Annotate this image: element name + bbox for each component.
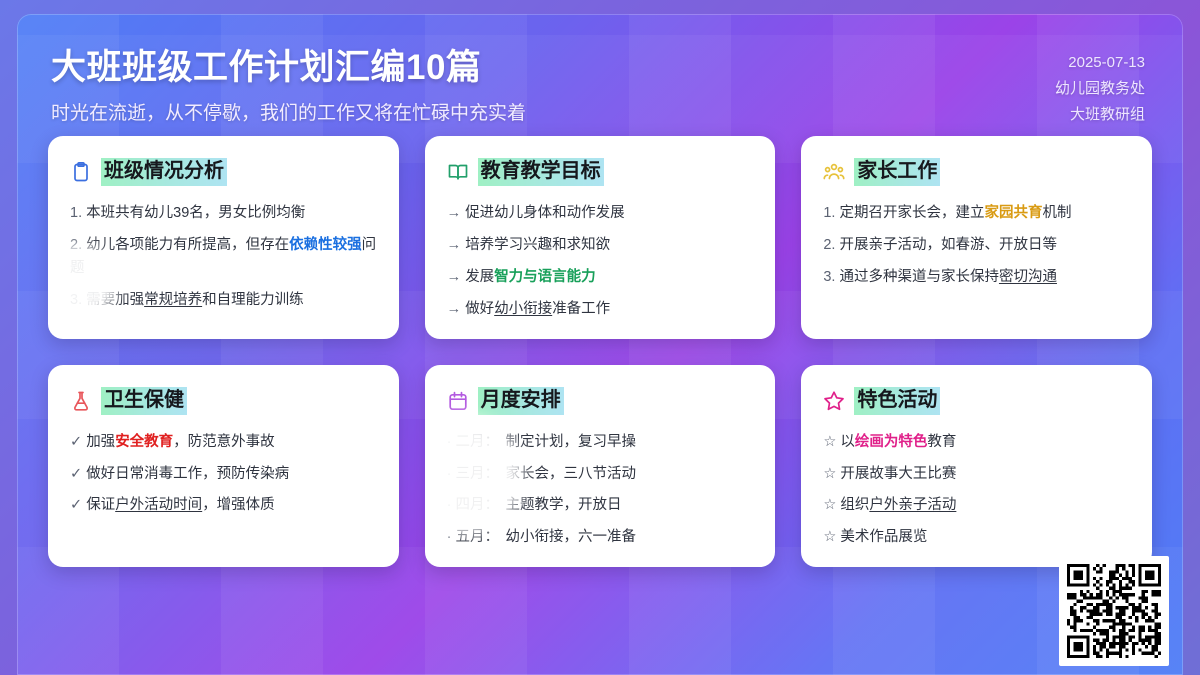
card-title: 月度安排 — [478, 387, 564, 415]
card-title: 家长工作 — [854, 158, 940, 186]
line-bullet: 3. — [70, 292, 86, 308]
line-segment: 需要加强 — [86, 292, 144, 308]
line-segment: 制定计划，复习早操 — [506, 434, 637, 450]
line-bullet: 2. — [70, 237, 86, 253]
line-segment: 保证 — [86, 497, 115, 513]
card-header: 家长工作 — [823, 158, 1130, 186]
line-bullet: 3. — [823, 269, 839, 285]
card-line: ✓ 保证户外活动时间，增强体质 — [70, 494, 377, 517]
line-segment: 做好 — [465, 301, 494, 317]
clipboard-icon — [70, 161, 92, 183]
line-segment: 培养学习兴趣和求知欲 — [465, 237, 610, 253]
qr-code[interactable] — [1059, 556, 1169, 666]
card-line: ☆ 开展故事大王比赛 — [823, 463, 1130, 486]
line-segment: 组织 — [840, 497, 869, 513]
line-segment: ，防范意外事故 — [173, 434, 275, 450]
line-bullet: ☆ — [823, 466, 840, 482]
line-segment: 机制 — [1042, 205, 1071, 221]
line-segment: ，增强体质 — [202, 497, 275, 513]
card-line: ☆ 以绘画为特色教育 — [823, 431, 1130, 454]
card-line: 1. 定期召开家长会，建立家园共育机制 — [823, 202, 1130, 225]
card-line: → 做好幼小衔接准备工作 — [447, 298, 754, 321]
line-bullet: ✓ — [70, 434, 86, 450]
line-segment: 本班共有幼儿39名，男女比例均衡 — [86, 205, 305, 221]
line-segment: 家园共育 — [984, 205, 1042, 221]
qr-code-image — [1067, 564, 1161, 658]
card-1: 班级情况分析1. 本班共有幼儿39名，男女比例均衡2. 幼儿各项能力有所提高，但… — [48, 136, 399, 339]
line-month: 三月： — [456, 463, 506, 486]
line-segment: 密切沟通 — [999, 269, 1057, 285]
card-body: 1. 本班共有幼儿39名，男女比例均衡2. 幼儿各项能力有所提高，但存在依赖性较… — [70, 202, 377, 312]
page-title: 大班班级工作计划汇编10篇 — [51, 48, 526, 88]
card-line: 3. 需要加强常规培养和自理能力训练 — [70, 289, 377, 312]
line-segment: 开展故事大王比赛 — [840, 466, 956, 482]
calendar-icon — [447, 390, 469, 412]
line-segment: 通过多种渠道与家长保持 — [839, 269, 999, 285]
line-segment: 安全教育 — [115, 434, 173, 450]
line-bullet: · — [447, 466, 456, 482]
header-org: 幼儿园教务处 — [1055, 76, 1145, 102]
line-segment: 家长会，三八节活动 — [506, 466, 637, 482]
content-panel: 大班班级工作计划汇编10篇 时光在流逝，从不停歇，我们的工作又将在忙碌中充实着 … — [17, 14, 1183, 675]
card-line: ✓ 做好日常消毒工作，预防传染病 — [70, 463, 377, 486]
card-line: → 促进幼儿身体和动作发展 — [447, 202, 754, 225]
card-header: 卫生保健 — [70, 387, 377, 415]
line-segment: 常规培养 — [144, 292, 202, 308]
line-bullet: · — [447, 529, 456, 545]
line-segment: 做好日常消毒工作，预防传染病 — [86, 466, 289, 482]
line-segment: 依赖性较强 — [289, 237, 362, 253]
card-line: 2. 幼儿各项能力有所提高，但存在依赖性较强问题 — [70, 234, 377, 280]
card-header: 月度安排 — [447, 387, 754, 415]
card-title: 卫生保健 — [101, 387, 187, 415]
people-group-icon — [823, 161, 845, 183]
line-segment: 教育 — [927, 434, 956, 450]
header-group: 大班教研组 — [1055, 102, 1145, 128]
card-body: → 促进幼儿身体和动作发展→ 培养学习兴趣和求知欲→ 发展智力与语言能力→ 做好… — [447, 202, 754, 321]
card-2: 教育教学目标→ 促进幼儿身体和动作发展→ 培养学习兴趣和求知欲→ 发展智力与语言… — [425, 136, 776, 339]
flask-icon — [70, 390, 92, 412]
card-line: · 二月：制定计划，复习早操 — [447, 431, 754, 454]
line-bullet: 1. — [70, 205, 86, 221]
page-backdrop: 大班班级工作计划汇编10篇 时光在流逝，从不停歇，我们的工作又将在忙碌中充实着 … — [0, 0, 1200, 675]
line-segment: 以 — [840, 434, 855, 450]
card-5: 月度安排· 二月：制定计划，复习早操· 三月：家长会，三八节活动· 四月：主题教… — [425, 365, 776, 568]
card-line: 1. 本班共有幼儿39名，男女比例均衡 — [70, 202, 377, 225]
line-bullet: → — [447, 237, 466, 253]
star-icon — [823, 390, 845, 412]
header-date: 2025-07-13 — [1055, 50, 1145, 76]
card-line: ☆ 美术作品展览 — [823, 526, 1130, 549]
card-body: · 二月：制定计划，复习早操· 三月：家长会，三八节活动· 四月：主题教学，开放… — [447, 431, 754, 550]
line-bullet: ☆ — [823, 497, 840, 513]
card-header: 班级情况分析 — [70, 158, 377, 186]
line-bullet: ☆ — [823, 529, 840, 545]
line-segment: 户外活动时间 — [115, 497, 202, 513]
card-6: 特色活动☆ 以绘画为特色教育☆ 开展故事大王比赛☆ 组织户外亲子活动☆ 美术作品… — [801, 365, 1152, 568]
line-bullet: 2. — [823, 237, 839, 253]
book-icon — [447, 161, 469, 183]
line-bullet: ✓ — [70, 497, 86, 513]
card-header: 教育教学目标 — [447, 158, 754, 186]
page-subtitle: 时光在流逝，从不停歇，我们的工作又将在忙碌中充实着 — [51, 98, 526, 125]
line-segment: 绘画为特色 — [855, 434, 928, 450]
card-title: 特色活动 — [854, 387, 940, 415]
card-4: 卫生保健✓ 加强安全教育，防范意外事故✓ 做好日常消毒工作，预防传染病✓ 保证户… — [48, 365, 399, 568]
card-title: 班级情况分析 — [101, 158, 227, 186]
header-title-block: 大班班级工作计划汇编10篇 时光在流逝，从不停歇，我们的工作又将在忙碌中充实着 — [51, 40, 526, 125]
line-bullet: · — [447, 434, 456, 450]
line-segment: 美术作品展览 — [840, 529, 927, 545]
line-segment: 户外亲子活动 — [869, 497, 956, 513]
card-line: · 五月：幼小衔接，六一准备 — [447, 526, 754, 549]
line-bullet: ✓ — [70, 466, 86, 482]
line-segment: 发展 — [465, 269, 494, 285]
line-segment: 加强 — [86, 434, 115, 450]
card-grid: 班级情况分析1. 本班共有幼儿39名，男女比例均衡2. 幼儿各项能力有所提高，但… — [17, 136, 1183, 567]
card-title: 教育教学目标 — [478, 158, 604, 186]
card-line: 2. 开展亲子活动，如春游、开放日等 — [823, 234, 1130, 257]
line-segment: 准备工作 — [552, 301, 610, 317]
card-line: → 发展智力与语言能力 — [447, 266, 754, 289]
line-bullet: ☆ — [823, 434, 840, 450]
line-bullet: → — [447, 301, 466, 317]
line-segment: 主题教学，开放日 — [506, 497, 622, 513]
card-body: ☆ 以绘画为特色教育☆ 开展故事大王比赛☆ 组织户外亲子活动☆ 美术作品展览 — [823, 431, 1130, 550]
line-bullet: 1. — [823, 205, 839, 221]
line-bullet: · — [447, 497, 456, 513]
line-segment: 幼小衔接，六一准备 — [506, 529, 637, 545]
line-bullet: → — [447, 205, 466, 221]
line-segment: 幼小衔接 — [494, 301, 552, 317]
line-month: 五月： — [456, 526, 506, 549]
card-line: · 四月：主题教学，开放日 — [447, 494, 754, 517]
line-bullet: → — [447, 269, 466, 285]
card-header: 特色活动 — [823, 387, 1130, 415]
header-meta-block: 2025-07-13 幼儿园教务处 大班教研组 — [1055, 40, 1145, 127]
line-segment: 促进幼儿身体和动作发展 — [465, 205, 625, 221]
card-line: · 三月：家长会，三八节活动 — [447, 463, 754, 486]
card-line: ☆ 组织户外亲子活动 — [823, 494, 1130, 517]
card-body: 1. 定期召开家长会，建立家园共育机制2. 开展亲子活动，如春游、开放日等3. … — [823, 202, 1130, 289]
card-3: 家长工作1. 定期召开家长会，建立家园共育机制2. 开展亲子活动，如春游、开放日… — [801, 136, 1152, 339]
line-month: 四月： — [456, 494, 506, 517]
line-month: 二月： — [456, 431, 506, 454]
line-segment: 开展亲子活动，如春游、开放日等 — [839, 237, 1057, 253]
line-segment: 幼儿各项能力有所提高，但存在 — [86, 237, 289, 253]
card-body: ✓ 加强安全教育，防范意外事故✓ 做好日常消毒工作，预防传染病✓ 保证户外活动时… — [70, 431, 377, 518]
card-line: 3. 通过多种渠道与家长保持密切沟通 — [823, 266, 1130, 289]
line-segment: 定期召开家长会，建立 — [839, 205, 984, 221]
page-header: 大班班级工作计划汇编10篇 时光在流逝，从不停歇，我们的工作又将在忙碌中充实着 … — [17, 14, 1183, 136]
line-segment: 和自理能力训练 — [202, 292, 304, 308]
card-line: → 培养学习兴趣和求知欲 — [447, 234, 754, 257]
line-segment: 智力与语言能力 — [494, 269, 596, 285]
card-line: ✓ 加强安全教育，防范意外事故 — [70, 431, 377, 454]
